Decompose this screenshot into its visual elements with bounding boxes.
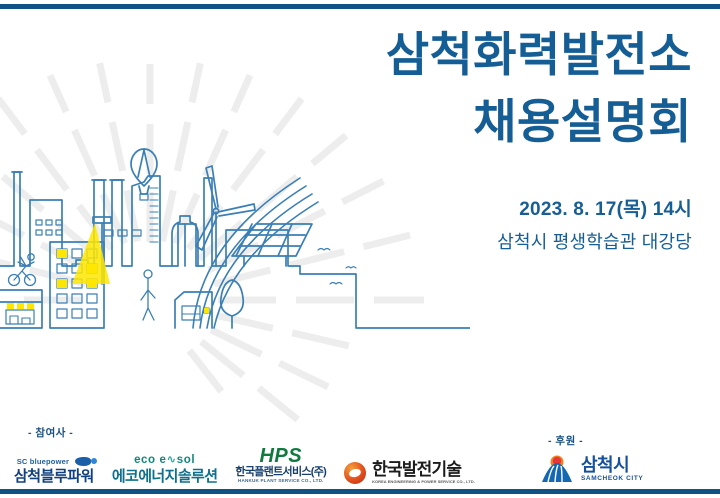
cooling-towers	[172, 216, 198, 266]
hps-korean: 한국플랜트서비스(주)	[235, 467, 326, 478]
eco-ensol-wave-icon: ∿	[166, 454, 176, 466]
poster-canvas: 삼척화력발전소 채용설명회 2023. 8. 17(목) 14시 삼척시 평생학…	[0, 0, 720, 498]
logo-hps[interactable]: HPS 한국플랜트서비스(주) HANKUK PLANT SERVICE CO.…	[235, 446, 326, 484]
sc-bluepower-mark-row: SC bluepower	[14, 457, 94, 466]
samcheok-city-sub: SAMCHEOK CITY	[581, 476, 643, 483]
logo-samcheok-city[interactable]: 삼척시 SAMCHEOK CITY	[540, 454, 643, 484]
eco-ensol-latin-pre: eco e	[134, 454, 166, 466]
event-place: 삼척시 평생학습관 대강당	[272, 225, 692, 259]
bluepower-dot-icon	[75, 457, 91, 466]
logo-eco-ensol[interactable]: eco e∿sol 에코에너지솔루션	[112, 455, 218, 485]
sponsor-label: - 후원 -	[548, 433, 643, 448]
event-date: 2023. 8. 17(목) 14시	[272, 196, 692, 225]
chimney-ladder	[150, 188, 158, 242]
samcheok-city-emblem-icon	[540, 454, 574, 484]
hps-sub: HANKUK PLANT SERVICE CO., LTD.	[235, 479, 326, 484]
tree-tall	[221, 280, 244, 328]
kps-text: 한국발전기술 KOREA ENGINEERING & POWER SERVICE…	[372, 461, 475, 484]
pedestrian	[141, 270, 155, 320]
participant-logo-row: SC bluepower 삼척블루파워 eco e∿sol 에코에너지솔루션 H…	[14, 446, 475, 484]
footer: - 참여사 - SC bluepower 삼척블루파워 eco e∿sol 에코…	[0, 402, 720, 484]
kps-sub: KOREA ENGINEERING & POWER SERVICE CO., L…	[372, 480, 475, 484]
page-title: 삼척화력발전소 채용설명회	[272, 22, 692, 155]
smokestack-caps	[12, 172, 124, 180]
eco-ensol-latin: eco e∿sol	[112, 455, 218, 467]
participants-group: - 참여사 - SC bluepower 삼척블루파워 eco e∿sol 에코…	[14, 425, 475, 484]
plant-windows	[36, 220, 141, 236]
participants-label: - 참여사 -	[28, 425, 475, 440]
cyclist	[9, 254, 36, 286]
kps-korean: 한국발전기술	[372, 461, 475, 478]
kps-flame-icon	[344, 462, 366, 484]
samcheok-city-korean: 삼척시	[581, 456, 643, 474]
sc-bluepower-korean: 삼척블루파워	[14, 469, 94, 484]
eco-ensol-latin-post: sol	[177, 454, 195, 466]
hps-latin: HPS	[235, 446, 326, 466]
eco-ensol-korean: 에코에너지솔루션	[112, 469, 218, 484]
samcheok-city-text: 삼척시 SAMCHEOK CITY	[581, 456, 643, 483]
event-meta: 2023. 8. 17(목) 14시 삼척시 평생학습관 대강당	[272, 196, 692, 259]
hot-air-balloon	[131, 149, 157, 200]
title-line-2: 채용설명회	[272, 89, 692, 156]
logo-sc-bluepower[interactable]: SC bluepower 삼척블루파워	[14, 457, 94, 484]
logo-korea-power-tech[interactable]: 한국발전기술 KOREA ENGINEERING & POWER SERVICE…	[344, 461, 475, 484]
sc-bluepower-latin: SC bluepower	[17, 458, 69, 466]
title-line-1: 삼척화력발전소	[272, 22, 692, 89]
sponsor-group: - 후원 - 삼척시 SAMCHEOK CITY	[540, 433, 643, 484]
sponsor-logo-row: 삼척시 SAMCHEOK CITY	[540, 454, 643, 484]
